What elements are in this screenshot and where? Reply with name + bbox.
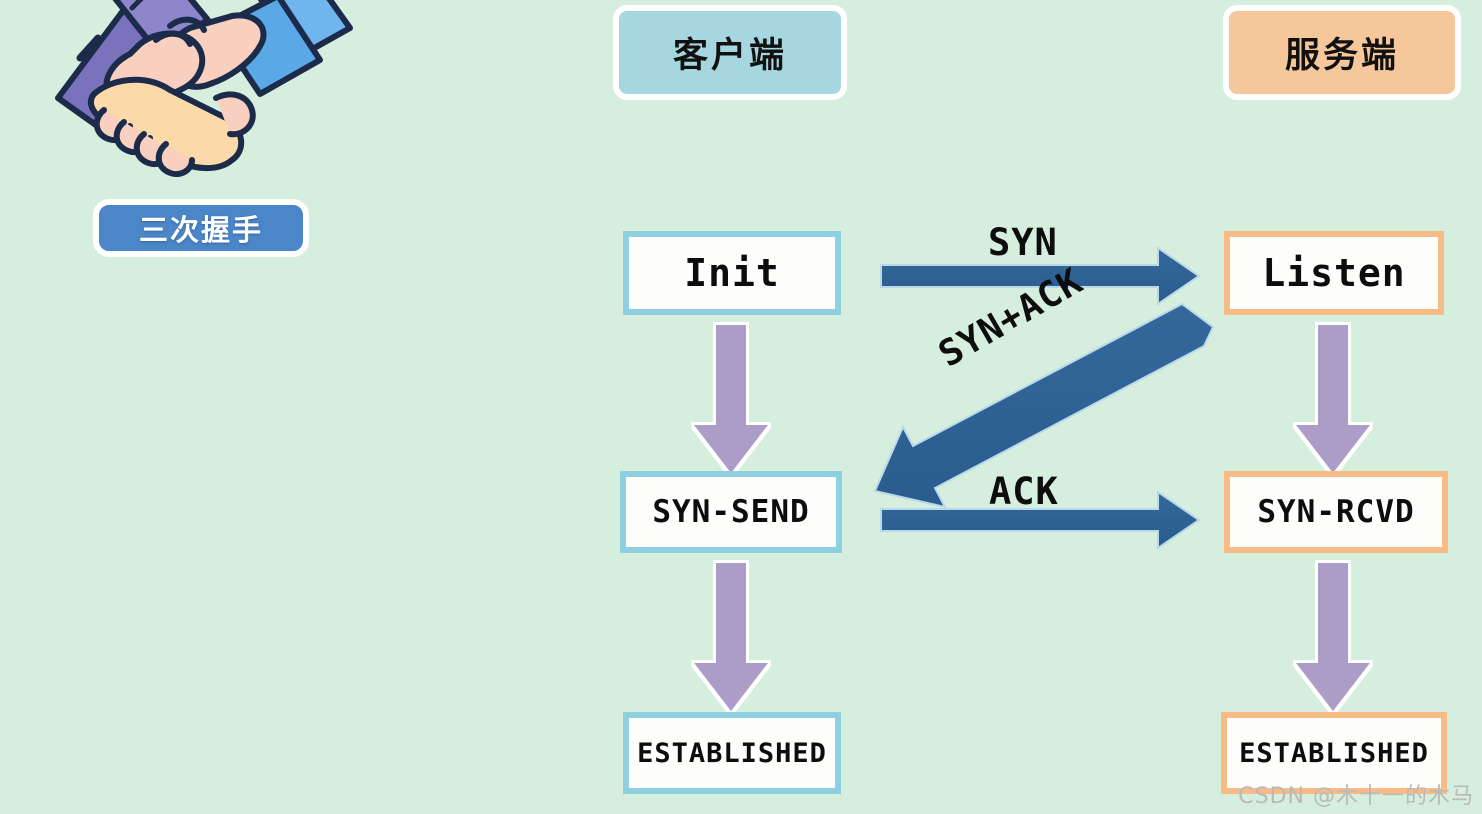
state-box-syn-send: SYN-SEND — [620, 471, 842, 553]
message-label-syn: SYN — [988, 221, 1058, 264]
state-box-established-client: ESTABLISHED — [623, 712, 841, 794]
transition-arrow-client-synsend-to-established — [694, 563, 768, 711]
transition-arrow-client-init-to-synsend — [694, 325, 768, 473]
message-label-syn-ack: SYN+ACK — [932, 261, 1090, 376]
diagram-canvas: 三次握手 客户端 服务端 — [0, 0, 1482, 814]
state-box-init: Init — [623, 231, 841, 315]
state-box-syn-rcvd: SYN-RCVD — [1224, 471, 1448, 553]
watermark: CSDN @木十一的木马 — [1238, 778, 1474, 810]
column-header-client: 客户端 — [613, 5, 847, 100]
message-label-ack: ACK — [989, 470, 1059, 513]
handshake-illustration — [20, 0, 380, 196]
state-box-listen: Listen — [1224, 231, 1444, 315]
transition-arrow-server-listen-to-synrcvd — [1296, 325, 1370, 473]
column-header-server: 服务端 — [1223, 5, 1461, 100]
transition-arrow-server-synrcvd-to-established — [1296, 563, 1370, 711]
handshake-icon — [20, 0, 380, 196]
handshake-caption: 三次握手 — [93, 199, 309, 257]
